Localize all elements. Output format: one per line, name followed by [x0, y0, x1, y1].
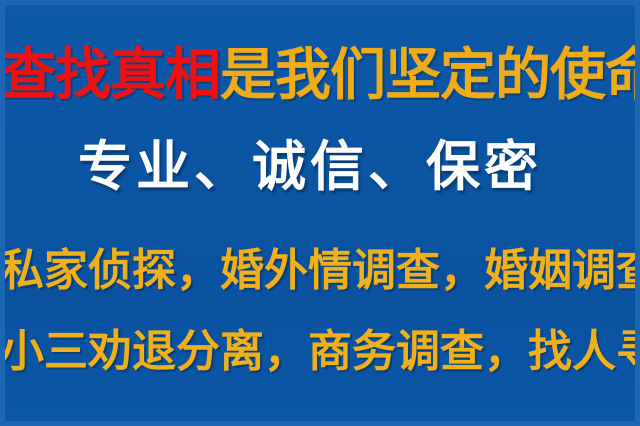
headline-emphasis-text: 查找真相 — [0, 48, 220, 104]
advertising-banner: 查找真相是我们坚定的使命 专业、诚信、保密 私家侦探，婚外情调查，婚姻调查， 小… — [0, 0, 640, 426]
services-line-1: 私家侦探，婚外情调查，婚姻调查， — [0, 249, 640, 293]
services-line-2: 小三劝退分离，商务调查，找人寻人 — [0, 330, 640, 374]
values-line: 专业、诚信、保密 — [0, 140, 640, 194]
headline-line: 查找真相是我们坚定的使命 — [0, 48, 640, 104]
headline-rest-text: 是我们坚定的使命 — [220, 48, 640, 104]
